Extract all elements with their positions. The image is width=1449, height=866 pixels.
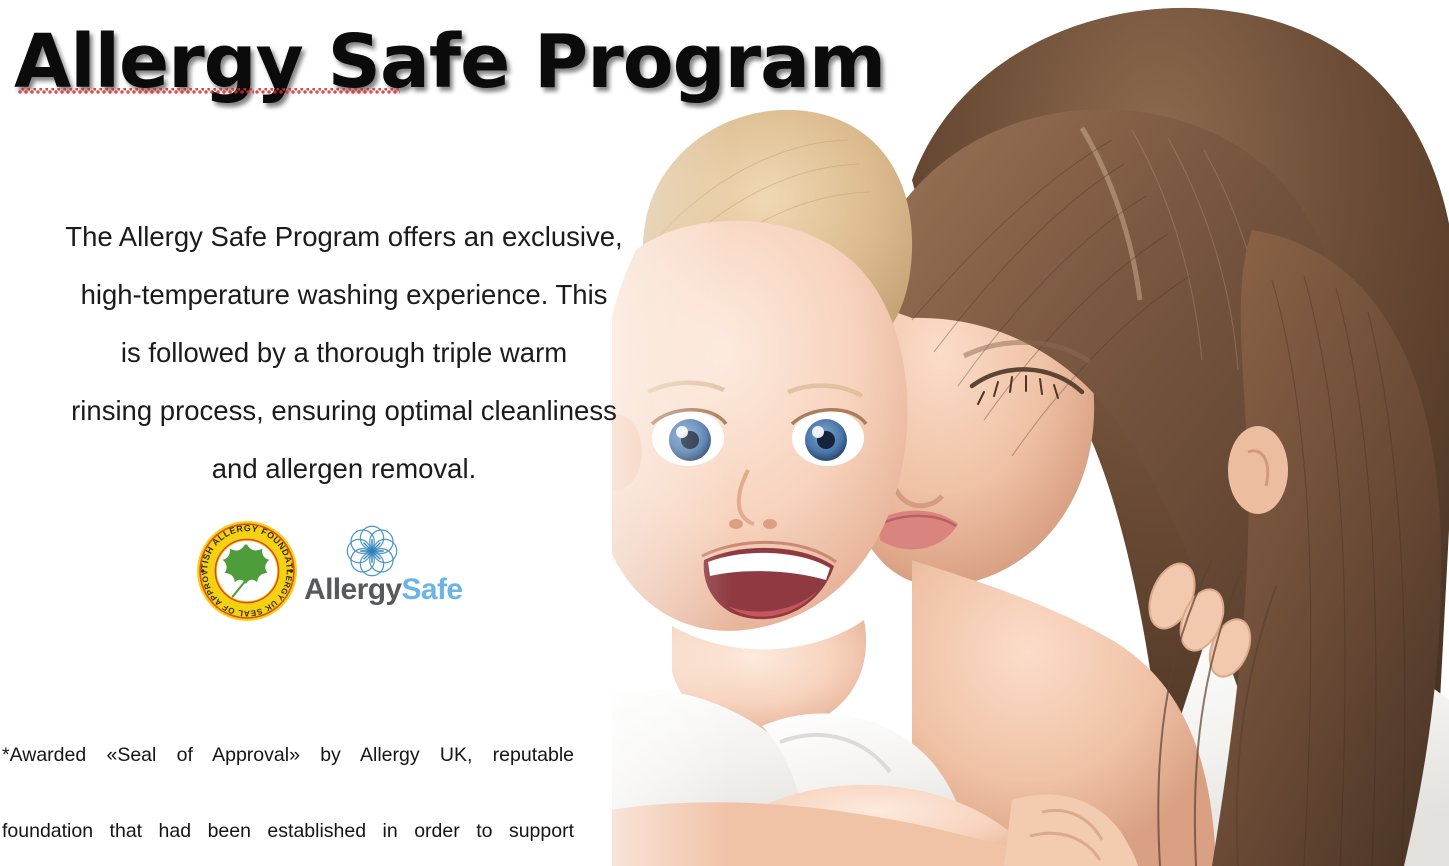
body-line-5: and allergen removal. (34, 440, 654, 498)
wordmark-safe: Safe (402, 573, 463, 606)
footnote: *Awarded «Seal of Approval» by Allergy U… (2, 736, 574, 866)
body-line-2: high-temperature washing experience. Thi… (34, 266, 654, 324)
logo-row: BRITISH ALLERGY FOUNDATION ALLERGY UK SE… (196, 519, 442, 623)
allergysafe-wordmark: AllergySafe (304, 573, 442, 607)
slide-canvas: Allergy Safe Program The Allergy Safe Pr… (0, 0, 1449, 866)
page-title: Allergy Safe Program (14, 22, 714, 114)
allergy-uk-seal-icon: BRITISH ALLERGY FOUNDATION ALLERGY UK SE… (196, 520, 298, 622)
flower-rosette-icon (344, 523, 400, 579)
body-line-3: is followed by a thorough triple warm (34, 324, 654, 382)
wordmark-allergy: Allergy (304, 573, 402, 606)
body-line-1: The Allergy Safe Program offers an exclu… (34, 208, 654, 266)
spellcheck-underline-safe (255, 88, 400, 94)
body-paragraph: The Allergy Safe Program offers an exclu… (34, 208, 654, 498)
footnote-line-2: foundation that had been established in … (2, 812, 574, 866)
body-line-4: rinsing process, ensuring optimal cleanl… (34, 382, 654, 440)
spellcheck-underline-allergy (18, 88, 254, 94)
mother-kissing-baby-photo (612, 0, 1449, 866)
allergysafe-logo: AllergySafe (304, 523, 442, 619)
footnote-line-1: *Awarded «Seal of Approval» by Allergy U… (2, 736, 574, 812)
